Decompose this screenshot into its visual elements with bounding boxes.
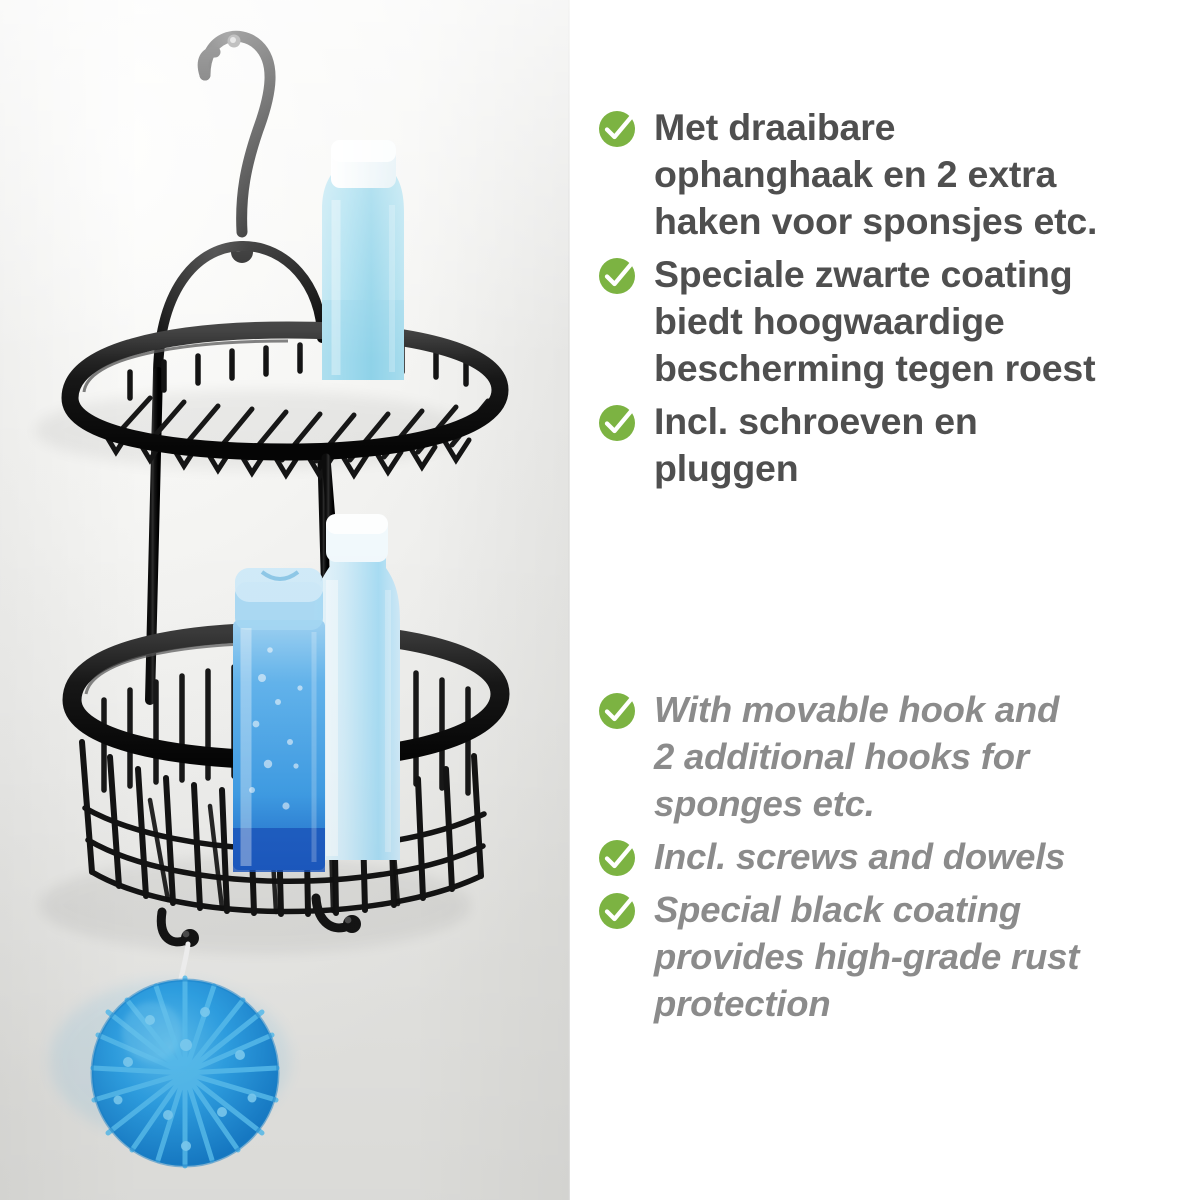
sponge-ball-group <box>92 978 278 1166</box>
feature-text: Incl. screws and dowels <box>654 833 1200 880</box>
feature-list-english: With movable hook and 2 additional hooks… <box>596 686 1200 1033</box>
product-photo <box>0 0 570 1200</box>
gel-bottle-group <box>233 568 325 872</box>
feature-list-panel: Met draaibare ophanghaak en 2 extra hake… <box>596 0 1200 1200</box>
feature-item: Speciale zwarte coating biedt hoogwaardi… <box>596 251 1200 392</box>
check-circle-icon <box>596 253 640 297</box>
check-circle-icon <box>596 888 640 932</box>
check-circle-icon <box>596 400 640 444</box>
feature-item: Met draaibare ophanghaak en 2 extra hake… <box>596 104 1200 245</box>
product-feature-slide: Met draaibare ophanghaak en 2 extra hake… <box>0 0 1200 1200</box>
top-bottle-group <box>322 140 404 380</box>
feature-text: Incl. schroeven en pluggen <box>654 398 1200 492</box>
feature-text: Special black coating provides high-grad… <box>654 886 1200 1027</box>
feature-list-dutch: Met draaibare ophanghaak en 2 extra hake… <box>596 104 1200 498</box>
check-circle-icon <box>596 106 640 150</box>
shower-caddy-illustration <box>0 0 570 1200</box>
feature-text: Speciale zwarte coating biedt hoogwaardi… <box>654 251 1200 392</box>
feature-item: Incl. schroeven en pluggen <box>596 398 1200 492</box>
feature-item: Special black coating provides high-grad… <box>596 886 1200 1027</box>
feature-item: With movable hook and 2 additional hooks… <box>596 686 1200 827</box>
feature-text: With movable hook and 2 additional hooks… <box>654 686 1200 827</box>
feature-item: Incl. screws and dowels <box>596 833 1200 880</box>
feature-text: Met draaibare ophanghaak en 2 extra hake… <box>654 104 1200 245</box>
check-circle-icon <box>596 688 640 732</box>
check-circle-icon <box>596 835 640 879</box>
panel-divider <box>568 0 570 1200</box>
